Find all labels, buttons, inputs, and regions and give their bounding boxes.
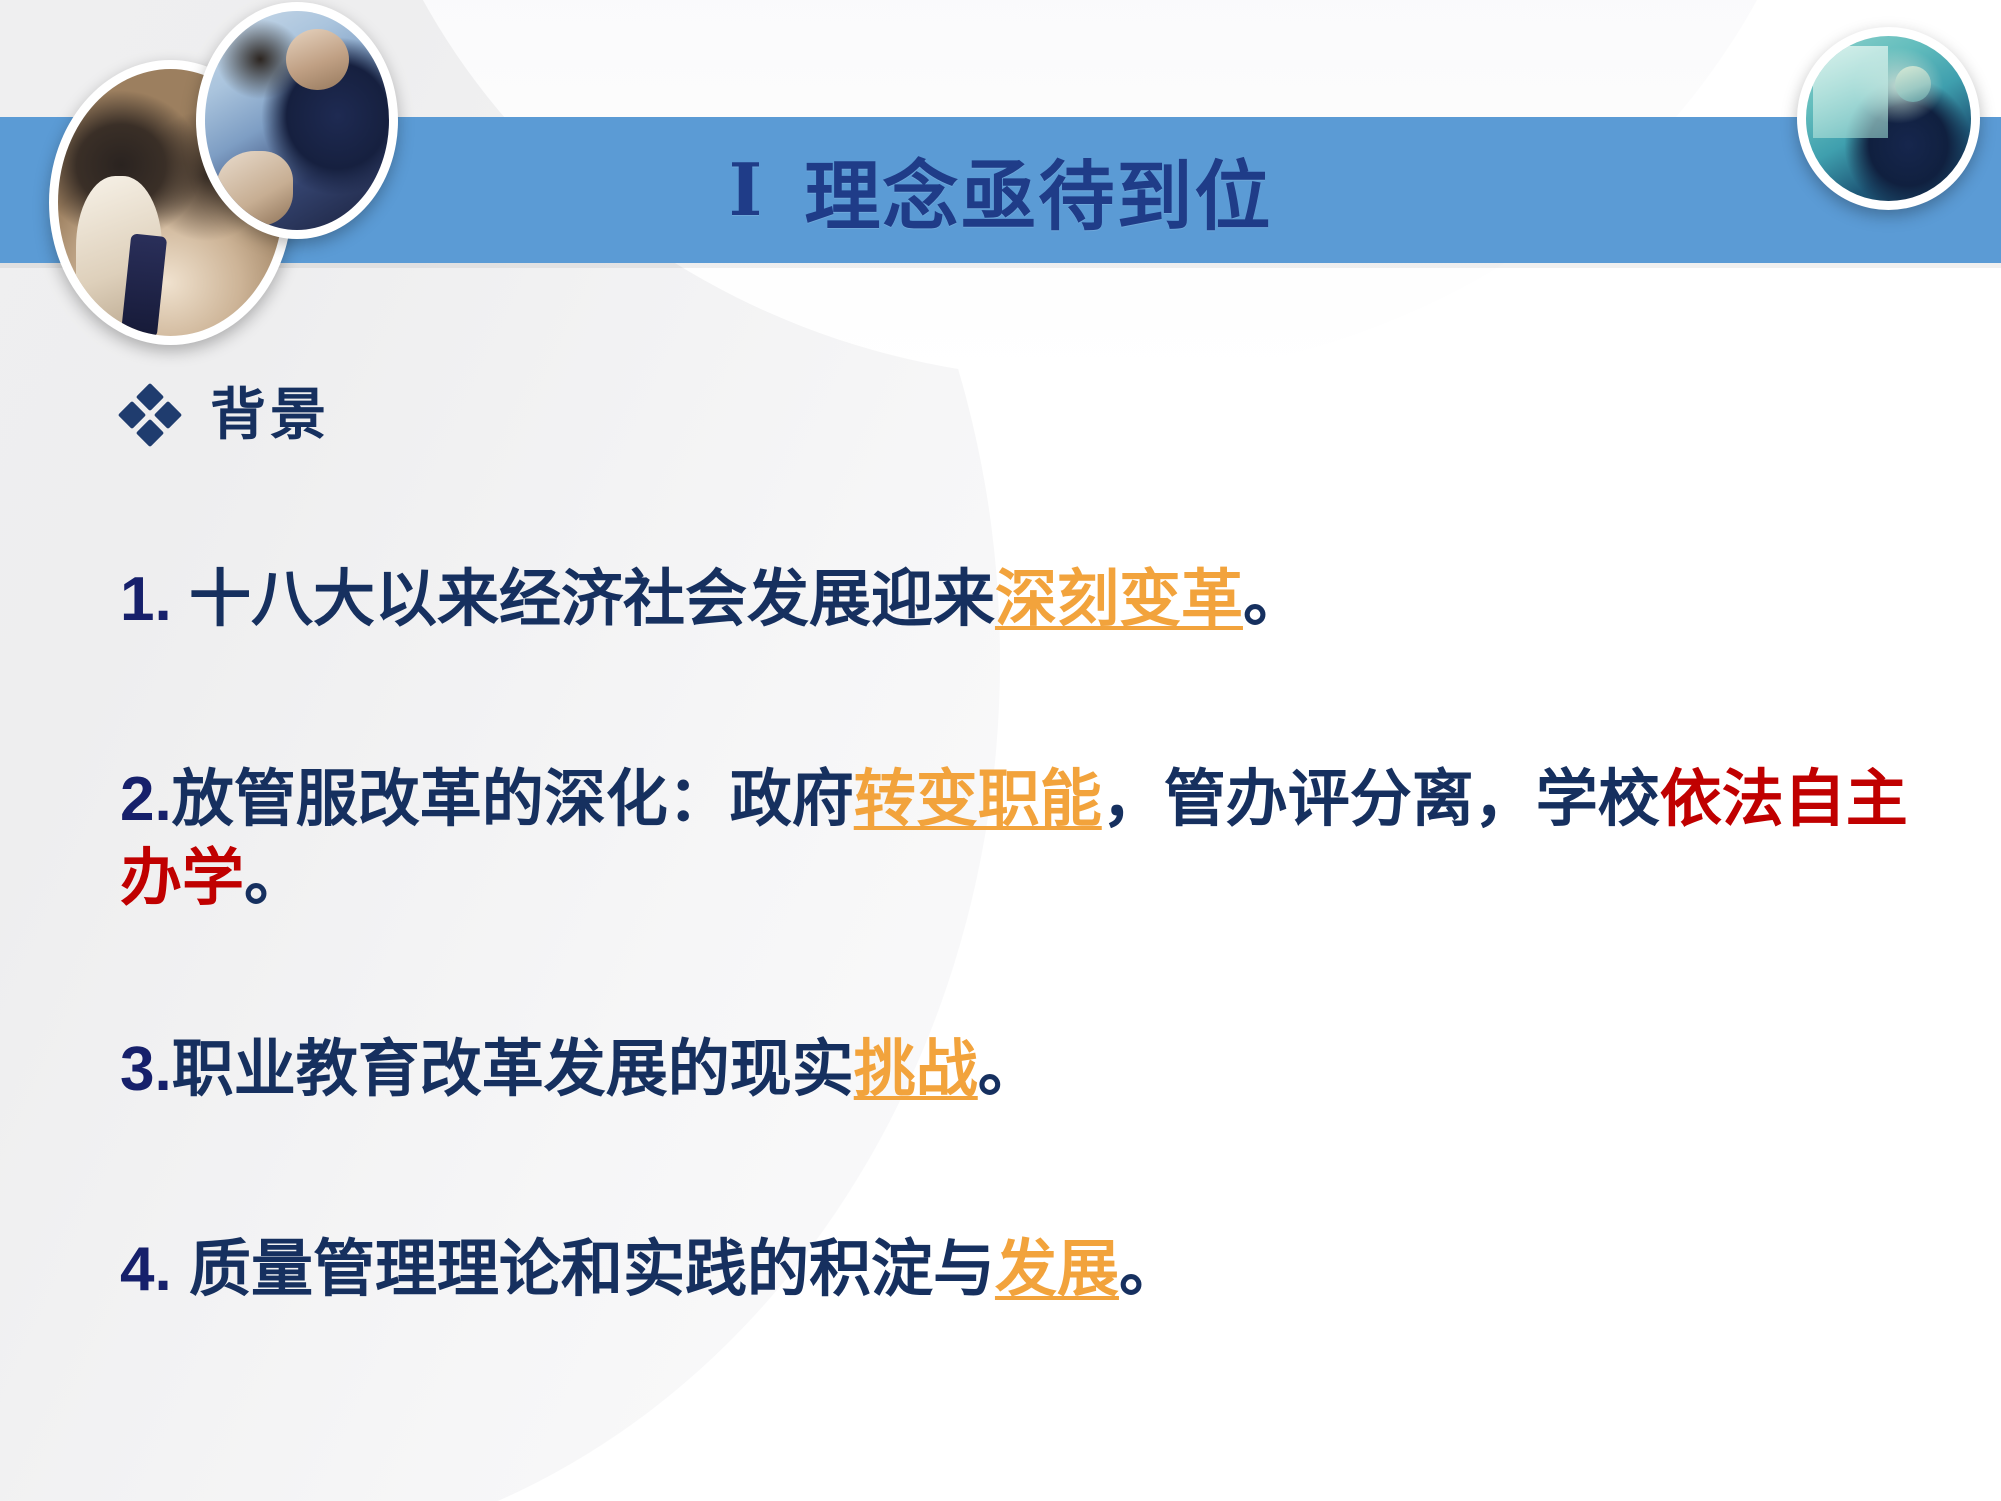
highlighted-text: 转变职能	[854, 765, 1102, 834]
list-item-text: 。	[244, 844, 306, 913]
list-item-number: 4.	[120, 1235, 172, 1304]
section-heading-label: 背景	[210, 387, 330, 443]
list-item-text: 。	[1243, 565, 1305, 634]
highlighted-text: 深刻变革	[995, 565, 1243, 634]
list-item-text: 质量管理理论和实践的积淀与	[172, 1235, 995, 1304]
list-item-2: 2.放管服改革的深化：政府转变职能，管办评分离，学校依法自主办学。	[120, 760, 1960, 919]
list-item-text: 十八大以来经济社会发展迎来	[172, 565, 995, 634]
highlighted-text: 发展	[995, 1235, 1119, 1304]
slide-content: 背景 1. 十八大以来经济社会发展迎来深刻变革。 2.放管服改革的深化：政府转变…	[0, 0, 2001, 1501]
list-item-number: 1.	[120, 565, 172, 634]
section-heading: 背景	[120, 385, 330, 445]
list-item-number: 2.	[120, 765, 172, 834]
presentation-slide: Ⅰ 理念亟待到位 背景 1. 十八大以来经济社会发展迎来深刻变革。 2.放管服改…	[0, 0, 2001, 1501]
list-item-text: 。	[1119, 1235, 1181, 1304]
list-item-text: 。	[978, 1035, 1040, 1104]
list-item-text: ，管办评分离，学校	[1102, 765, 1660, 834]
list-item-text: 职业教育改革发展的现实	[172, 1035, 854, 1104]
list-item-3: 3.职业教育改革发展的现实挑战。	[120, 1030, 1950, 1109]
list-item-4: 4. 质量管理理论和实践的积淀与发展。	[120, 1230, 1950, 1309]
list-item-text: 放管服改革的深化：政府	[172, 765, 854, 834]
diamond-bullet-icon	[120, 385, 180, 445]
list-item-1: 1. 十八大以来经济社会发展迎来深刻变革。	[120, 560, 1950, 639]
list-item-number: 3.	[120, 1035, 172, 1104]
highlighted-text: 挑战	[854, 1035, 978, 1104]
